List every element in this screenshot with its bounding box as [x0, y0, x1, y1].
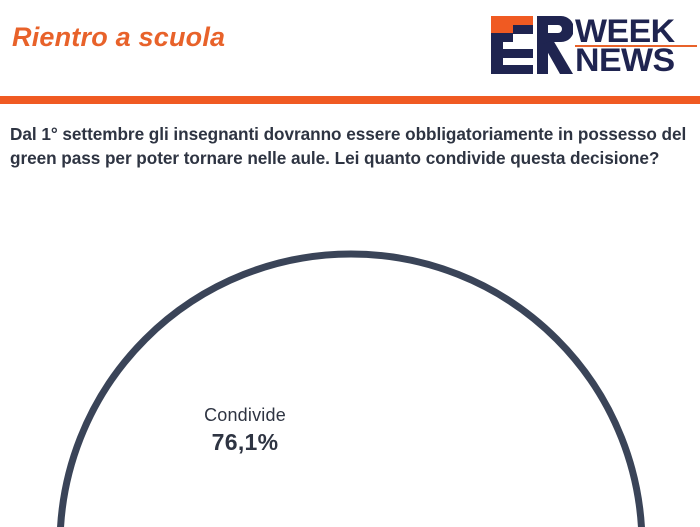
slice-label-value: 76,1%: [150, 429, 340, 456]
donut-outline-arc: [60, 254, 642, 527]
slice-label-condivide: Condivide 76,1%: [150, 405, 340, 456]
er-monogram-icon: [491, 16, 573, 74]
logo-word-news: NEWS: [575, 44, 675, 76]
slice-label-name: Condivide: [150, 405, 340, 426]
donut-ring: [48, 242, 654, 527]
page-title: Rientro a scuola: [12, 22, 225, 53]
brand-logo: WEEK NEWS: [487, 12, 692, 78]
logo-wordmark: WEEK NEWS: [575, 12, 693, 78]
pie-chart: Condivide 76,1%: [0, 210, 700, 527]
header-bar: Rientro a scuola WEEK NEWS: [0, 0, 700, 96]
survey-question: Dal 1° settembre gli insegnanti dovranno…: [10, 122, 694, 171]
header-divider: [0, 96, 700, 104]
